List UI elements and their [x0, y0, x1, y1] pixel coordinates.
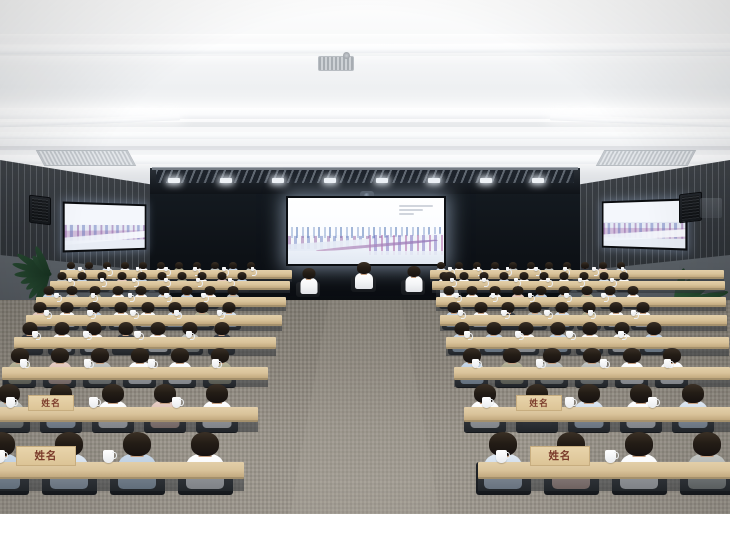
- table-row: [478, 462, 730, 479]
- attendee-head: [627, 286, 638, 295]
- table-cup: [546, 278, 550, 282]
- downlight-icon: [220, 178, 232, 183]
- attendee-head: [582, 322, 597, 335]
- table-cup: [84, 359, 91, 368]
- table-cup: [164, 267, 168, 271]
- table-cup: [566, 331, 572, 339]
- table-cup: [664, 359, 671, 368]
- attendee-head: [217, 272, 226, 280]
- table-cup: [578, 278, 582, 282]
- table-cup: [528, 293, 533, 299]
- table-cup: [450, 278, 454, 282]
- attendee-head: [191, 432, 219, 456]
- attendee-head: [623, 348, 641, 363]
- attendee-head: [112, 286, 123, 295]
- attendee-head: [466, 286, 477, 295]
- table-cup: [193, 267, 197, 271]
- sprinkler-icon: [343, 52, 350, 59]
- table-cup: [501, 310, 506, 317]
- table-cup: [201, 293, 206, 299]
- front-attendee: [355, 262, 373, 288]
- attendee-torso: [300, 278, 317, 294]
- table-row: [454, 367, 730, 380]
- table-cup: [514, 278, 518, 282]
- attendee-head: [503, 348, 521, 363]
- table-cup: [251, 267, 255, 271]
- attendee-head: [66, 286, 77, 295]
- attendee-head: [545, 262, 553, 269]
- table-cup: [6, 397, 15, 408]
- name-placard: 姓名: [530, 446, 590, 465]
- front-attendee: [405, 266, 422, 291]
- table-cup: [448, 267, 452, 271]
- attendee-head: [509, 262, 517, 269]
- name-placard: 姓名: [16, 446, 76, 465]
- table-cup: [134, 331, 140, 339]
- downlight-icon: [532, 178, 544, 183]
- attendee-head: [54, 322, 69, 335]
- table-cup: [103, 450, 114, 463]
- table-cup: [136, 267, 140, 271]
- table-cup: [130, 310, 135, 317]
- right-wall-speaker-icon: [679, 192, 702, 224]
- table-cup: [148, 359, 155, 368]
- attendee-head: [581, 286, 592, 295]
- attendee-head: [646, 322, 661, 335]
- screen-bezel: [286, 196, 446, 266]
- ceiling-truss: [156, 170, 574, 183]
- attendee-head: [407, 266, 420, 277]
- attendee-head: [625, 432, 653, 456]
- table-cup: [0, 450, 5, 463]
- downlight-icon: [168, 178, 180, 183]
- attendee-head: [142, 302, 155, 313]
- attendee-head: [491, 262, 499, 269]
- attendee-head: [693, 432, 721, 456]
- table-cup: [217, 310, 222, 317]
- ceiling: [0, 0, 730, 190]
- table-row: [2, 367, 268, 380]
- table-cup: [600, 359, 607, 368]
- attendee-head: [499, 272, 508, 280]
- attendee-head: [117, 272, 126, 280]
- name-placard: 姓名: [516, 395, 562, 412]
- attendee-head: [302, 268, 315, 279]
- table-cup: [601, 293, 606, 299]
- table-cup: [482, 278, 486, 282]
- attendee-head: [214, 322, 229, 335]
- attendee-head: [599, 272, 608, 280]
- attendee-head: [559, 272, 568, 280]
- table-row: [464, 407, 730, 422]
- table-cup: [174, 310, 179, 317]
- attendee-head: [102, 384, 124, 403]
- attendee-head: [682, 384, 704, 403]
- table-cup: [212, 359, 219, 368]
- attendee-head: [91, 348, 109, 363]
- attendee-head: [177, 272, 186, 280]
- table-cup: [506, 267, 510, 271]
- attendee-head: [123, 432, 151, 456]
- attendee-head: [206, 384, 228, 403]
- attendee-head: [535, 286, 546, 295]
- ceiling-vent-icon: [596, 150, 697, 166]
- table-row: [430, 270, 724, 279]
- attendee-head: [455, 262, 463, 269]
- attendee-head: [67, 262, 75, 269]
- downlight-icon: [428, 178, 440, 183]
- attendee-head: [229, 262, 237, 269]
- attendee-head: [196, 302, 209, 313]
- table-cup: [186, 331, 192, 339]
- table-cup: [477, 267, 481, 271]
- attendee-head: [171, 348, 189, 363]
- table-cup: [164, 278, 168, 282]
- table-underside: [478, 477, 730, 491]
- table-cup: [472, 359, 479, 368]
- attendee-head: [459, 272, 468, 280]
- table-cup: [91, 293, 96, 299]
- photo-bottom-border: [0, 514, 730, 548]
- attendee-head: [150, 322, 165, 335]
- table-cup: [563, 267, 567, 271]
- attendee-head: [121, 262, 129, 269]
- attendee-head: [85, 262, 93, 269]
- table-cup: [44, 310, 49, 317]
- attendee-head: [51, 348, 69, 363]
- attendee-head: [118, 322, 133, 335]
- attendee-torso: [405, 276, 422, 292]
- attendee-head: [223, 302, 236, 313]
- table-cup: [128, 293, 133, 299]
- attendee-head: [227, 286, 238, 295]
- table-cup: [68, 278, 72, 282]
- attendee-head: [437, 262, 445, 269]
- table-cup: [132, 278, 136, 282]
- table-cup: [222, 267, 226, 271]
- attendee-head: [211, 262, 219, 269]
- attendee-head: [357, 262, 371, 274]
- table-cup: [20, 359, 27, 368]
- left-wall-speaker-icon: [29, 195, 51, 226]
- table-cup: [228, 278, 232, 282]
- table-cup: [458, 310, 463, 317]
- attendee-head: [578, 384, 600, 403]
- ceiling-light-strip: [0, 132, 730, 139]
- table-cup: [54, 293, 59, 299]
- table-cup: [610, 278, 614, 282]
- attendee-head: [57, 272, 66, 280]
- table-cup: [78, 267, 82, 271]
- attendee-head: [529, 302, 542, 313]
- attendee-head: [237, 272, 246, 280]
- table-cup: [87, 310, 92, 317]
- table-cup: [592, 267, 596, 271]
- attendee-head: [581, 262, 589, 269]
- table-cup: [107, 267, 111, 271]
- attendee-head: [181, 286, 192, 295]
- table-cup: [482, 397, 491, 408]
- attendee-head: [135, 286, 146, 295]
- attendee-head: [61, 302, 74, 313]
- table-cup: [32, 331, 38, 339]
- table-cup: [544, 310, 549, 317]
- table-cup: [164, 293, 169, 299]
- downlight-icon: [272, 178, 284, 183]
- attendee-head: [556, 302, 569, 313]
- attendee-head: [512, 286, 523, 295]
- table-underside: [0, 477, 244, 491]
- table-cup: [454, 293, 459, 299]
- truss-rail: [152, 167, 578, 170]
- attendee-head: [77, 272, 86, 280]
- table-cup: [534, 267, 538, 271]
- table-cup: [100, 278, 104, 282]
- table-cup: [491, 293, 496, 299]
- right-display-content: [603, 201, 685, 249]
- table-cup: [605, 450, 616, 463]
- table-cup: [631, 310, 636, 317]
- table-cup: [515, 331, 521, 339]
- downlight-icon: [480, 178, 492, 183]
- attendee-head: [637, 302, 650, 313]
- wall-plaque: [700, 198, 722, 218]
- attendee-head: [519, 272, 528, 280]
- attendee-head: [137, 272, 146, 280]
- photo-canvas: 姓名姓名姓名姓名: [0, 0, 730, 548]
- right-side-display[interactable]: [602, 198, 688, 250]
- table-cup: [196, 278, 200, 282]
- front-attendee: [300, 268, 317, 293]
- attendee-head: [443, 286, 454, 295]
- attendee-head: [550, 322, 565, 335]
- downlight-icon: [324, 178, 336, 183]
- attendee-head: [175, 262, 183, 269]
- table-cup: [621, 267, 625, 271]
- attendee-head: [543, 348, 561, 363]
- attendee-head: [115, 302, 128, 313]
- table-cup: [588, 310, 593, 317]
- attendee-head: [486, 322, 501, 335]
- attendee-head: [599, 262, 607, 269]
- table-cup: [89, 397, 98, 408]
- table-cup: [536, 359, 543, 368]
- attendee-head: [131, 348, 149, 363]
- attendee-torso: [355, 273, 373, 289]
- attendee-head: [619, 272, 628, 280]
- table-cup: [564, 293, 569, 299]
- table-cup: [618, 331, 624, 339]
- table-cup: [565, 397, 574, 408]
- name-placard: 姓名: [28, 395, 74, 412]
- attendee-head: [610, 302, 623, 313]
- table-cup: [496, 450, 507, 463]
- table-cup: [464, 331, 470, 339]
- ceiling-vent-icon: [36, 150, 137, 166]
- attendee-head: [475, 302, 488, 313]
- attendee-head: [139, 262, 147, 269]
- attendee-head: [43, 286, 54, 295]
- downlight-icon: [376, 178, 388, 183]
- table-cup: [83, 331, 89, 339]
- attendee-head: [583, 348, 601, 363]
